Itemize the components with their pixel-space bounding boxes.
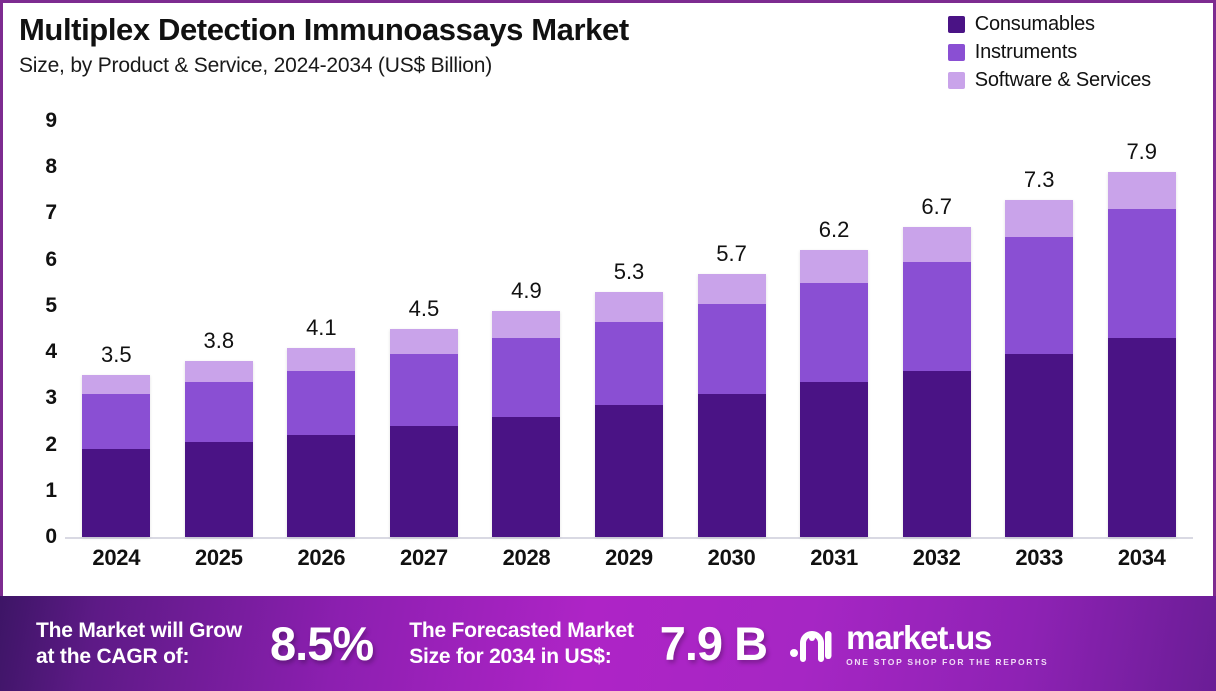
cagr-value: 8.5% xyxy=(270,616,373,671)
bar-slot: 3.8 xyxy=(168,121,271,537)
x-axis-tick-label: 2034 xyxy=(1090,545,1193,571)
bottom-banner: The Market will Grow at the CAGR of: 8.5… xyxy=(0,596,1216,691)
bar-segment-consumables[interactable] xyxy=(903,371,971,537)
bar-total-label: 7.9 xyxy=(1126,139,1157,165)
stacked-bar[interactable]: 4.5 xyxy=(390,329,458,537)
x-axis-tick-label: 2026 xyxy=(270,545,373,571)
legend-item-label: Software & Services xyxy=(975,69,1151,92)
bar-segment-consumables[interactable] xyxy=(287,435,355,537)
bar-total-label: 5.3 xyxy=(614,259,645,285)
chart-header: Multiplex Detection Immunoassays Market … xyxy=(19,13,839,78)
bar-segment-instruments[interactable] xyxy=(595,322,663,405)
bar-slot: 6.2 xyxy=(783,121,886,537)
bar-slot: 3.5 xyxy=(65,121,168,537)
bar-segment-software-services[interactable] xyxy=(1005,200,1073,237)
y-axis-tick-label: 9 xyxy=(45,109,57,133)
legend-item-label: Consumables xyxy=(975,13,1095,36)
square-swatch-icon xyxy=(948,44,965,61)
bar-segment-software-services[interactable] xyxy=(903,227,971,262)
y-axis-tick-label: 8 xyxy=(45,155,57,179)
bar-total-label: 6.2 xyxy=(819,217,850,243)
bar-total-label: 3.8 xyxy=(204,328,235,354)
bar-segment-instruments[interactable] xyxy=(185,382,253,442)
bar-total-label: 5.7 xyxy=(716,241,747,267)
chart-legend: ConsumablesInstrumentsSoftware & Service… xyxy=(948,13,1151,92)
page-title: Multiplex Detection Immunoassays Market xyxy=(19,13,839,47)
square-swatch-icon xyxy=(948,16,965,33)
y-axis-tick-label: 2 xyxy=(45,433,57,457)
bar-slot: 7.3 xyxy=(988,121,1091,537)
y-axis-tick-label: 7 xyxy=(45,201,57,225)
stacked-bar[interactable]: 7.9 xyxy=(1108,172,1176,537)
stacked-bar[interactable]: 6.7 xyxy=(903,227,971,537)
x-axis-tick-label: 2029 xyxy=(578,545,681,571)
stacked-bar[interactable]: 3.8 xyxy=(185,361,253,537)
infographic-root: Multiplex Detection Immunoassays Market … xyxy=(0,0,1216,691)
y-axis-tick-label: 1 xyxy=(45,479,57,503)
logo-wordmark: market.us xyxy=(846,621,1048,654)
bar-segment-consumables[interactable] xyxy=(595,405,663,537)
x-axis-tick-label: 2032 xyxy=(885,545,988,571)
bar-segment-software-services[interactable] xyxy=(492,311,560,339)
brand-logo[interactable]: market.us ONE STOP SHOP FOR THE REPORTS xyxy=(789,621,1048,667)
bar-slot: 6.7 xyxy=(885,121,988,537)
bar-segment-consumables[interactable] xyxy=(390,426,458,537)
y-axis-tick-label: 0 xyxy=(45,525,57,549)
legend-item[interactable]: Instruments xyxy=(948,41,1151,64)
bar-segment-instruments[interactable] xyxy=(390,354,458,426)
bar-total-label: 4.5 xyxy=(409,296,440,322)
bar-slot: 7.9 xyxy=(1090,121,1193,537)
bar-segment-instruments[interactable] xyxy=(1005,237,1073,355)
bar-segment-software-services[interactable] xyxy=(800,250,868,282)
stacked-bar[interactable]: 6.2 xyxy=(800,250,868,537)
forecast-value: 7.9 B xyxy=(660,616,767,671)
bar-segment-consumables[interactable] xyxy=(185,442,253,537)
bar-group: 3.53.84.14.54.95.35.76.26.77.37.9 xyxy=(65,121,1193,537)
bar-segment-software-services[interactable] xyxy=(82,375,150,393)
chart-plot-area: 0123456789 3.53.84.14.54.95.35.76.26.77.… xyxy=(19,121,1199,591)
bar-segment-consumables[interactable] xyxy=(82,449,150,537)
x-axis-tick-label: 2033 xyxy=(988,545,1091,571)
x-axis-tick-label: 2028 xyxy=(475,545,578,571)
page-subtitle: Size, by Product & Service, 2024-2034 (U… xyxy=(19,54,839,78)
legend-item-label: Instruments xyxy=(975,41,1077,64)
bar-segment-consumables[interactable] xyxy=(1108,338,1176,537)
bar-segment-consumables[interactable] xyxy=(492,417,560,537)
bar-slot: 5.3 xyxy=(578,121,681,537)
bar-segment-instruments[interactable] xyxy=(1108,209,1176,338)
logo-text: market.us ONE STOP SHOP FOR THE REPORTS xyxy=(846,621,1048,667)
bar-total-label: 7.3 xyxy=(1024,167,1055,193)
bar-segment-instruments[interactable] xyxy=(800,283,868,382)
x-axis-tick-label: 2030 xyxy=(680,545,783,571)
bar-total-label: 3.5 xyxy=(101,342,132,368)
stacked-bar[interactable]: 4.9 xyxy=(492,311,560,537)
x-axis-tick-label: 2031 xyxy=(783,545,886,571)
bar-total-label: 6.7 xyxy=(921,194,952,220)
y-axis-tick-label: 5 xyxy=(45,294,57,318)
bar-segment-software-services[interactable] xyxy=(390,329,458,354)
bar-segment-instruments[interactable] xyxy=(287,371,355,436)
bar-total-label: 4.9 xyxy=(511,278,542,304)
bar-slot: 4.9 xyxy=(475,121,578,537)
bar-segment-instruments[interactable] xyxy=(903,262,971,371)
x-axis-baseline xyxy=(65,537,1193,539)
bar-segment-instruments[interactable] xyxy=(492,338,560,417)
bar-segment-instruments[interactable] xyxy=(82,394,150,449)
legend-item[interactable]: Consumables xyxy=(948,13,1151,36)
bar-segment-software-services[interactable] xyxy=(1108,172,1176,209)
bar-segment-software-services[interactable] xyxy=(595,292,663,322)
bar-slot: 5.7 xyxy=(680,121,783,537)
cagr-label: The Market will Grow at the CAGR of: xyxy=(36,618,242,669)
forecast-label: The Forecasted Market Size for 2034 in U… xyxy=(409,618,634,669)
logo-tagline: ONE STOP SHOP FOR THE REPORTS xyxy=(846,657,1048,667)
x-axis-tick-label: 2027 xyxy=(373,545,476,571)
bar-segment-consumables[interactable] xyxy=(1005,354,1073,537)
x-axis-tick-label: 2024 xyxy=(65,545,168,571)
stacked-bar[interactable]: 5.7 xyxy=(698,274,766,537)
stacked-bar[interactable]: 3.5 xyxy=(82,375,150,537)
x-axis-tick-label: 2025 xyxy=(168,545,271,571)
y-axis: 0123456789 xyxy=(19,121,65,539)
bar-segment-software-services[interactable] xyxy=(287,348,355,371)
bar-slot: 4.5 xyxy=(373,121,476,537)
x-axis: 2024202520262027202820292030203120322033… xyxy=(65,545,1193,571)
y-axis-tick-label: 3 xyxy=(45,386,57,410)
bar-slot: 4.1 xyxy=(270,121,373,537)
chart-card: Multiplex Detection Immunoassays Market … xyxy=(0,0,1216,596)
market-us-logo-icon xyxy=(789,623,837,665)
bar-segment-instruments[interactable] xyxy=(698,304,766,394)
stacked-bar[interactable]: 5.3 xyxy=(595,292,663,537)
bar-segment-software-services[interactable] xyxy=(698,274,766,304)
stacked-bar[interactable]: 4.1 xyxy=(287,348,355,538)
y-axis-tick-label: 4 xyxy=(45,340,57,364)
bar-segment-software-services[interactable] xyxy=(185,361,253,382)
bar-segment-consumables[interactable] xyxy=(698,394,766,537)
y-axis-tick-label: 6 xyxy=(45,248,57,272)
legend-item[interactable]: Software & Services xyxy=(948,69,1151,92)
bar-segment-consumables[interactable] xyxy=(800,382,868,537)
square-swatch-icon xyxy=(948,72,965,89)
bar-total-label: 4.1 xyxy=(306,315,337,341)
stacked-bar[interactable]: 7.3 xyxy=(1005,200,1073,537)
